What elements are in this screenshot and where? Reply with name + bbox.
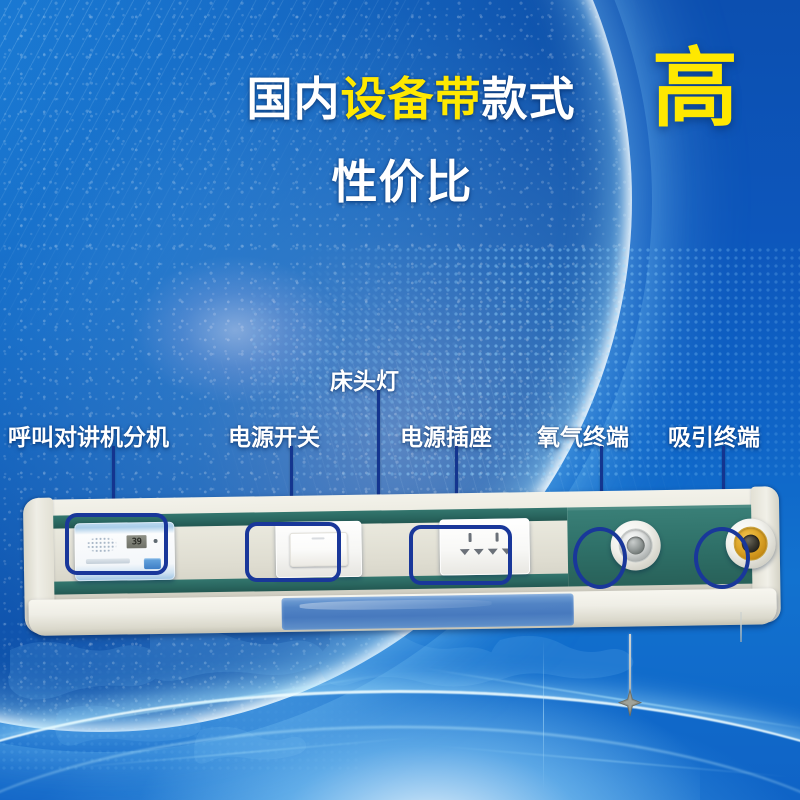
protective-film-strip bbox=[281, 593, 573, 630]
highlight-box-socket bbox=[409, 525, 512, 585]
highlight-circle-suction bbox=[694, 527, 750, 589]
suction-drain-tube bbox=[740, 612, 742, 642]
highlight-circle-oxygen bbox=[573, 527, 627, 589]
poster-canvas: 国内设备带款式 性价比 高 呼叫对讲机分机 电源开关 床头灯 电源插座 氧气终端… bbox=[0, 0, 800, 800]
device-panel-layer: 39 bbox=[0, 0, 800, 800]
pull-cord-weight-icon[interactable] bbox=[615, 688, 645, 718]
highlight-box-intercom bbox=[65, 513, 168, 575]
highlight-box-power-switch bbox=[245, 522, 341, 582]
